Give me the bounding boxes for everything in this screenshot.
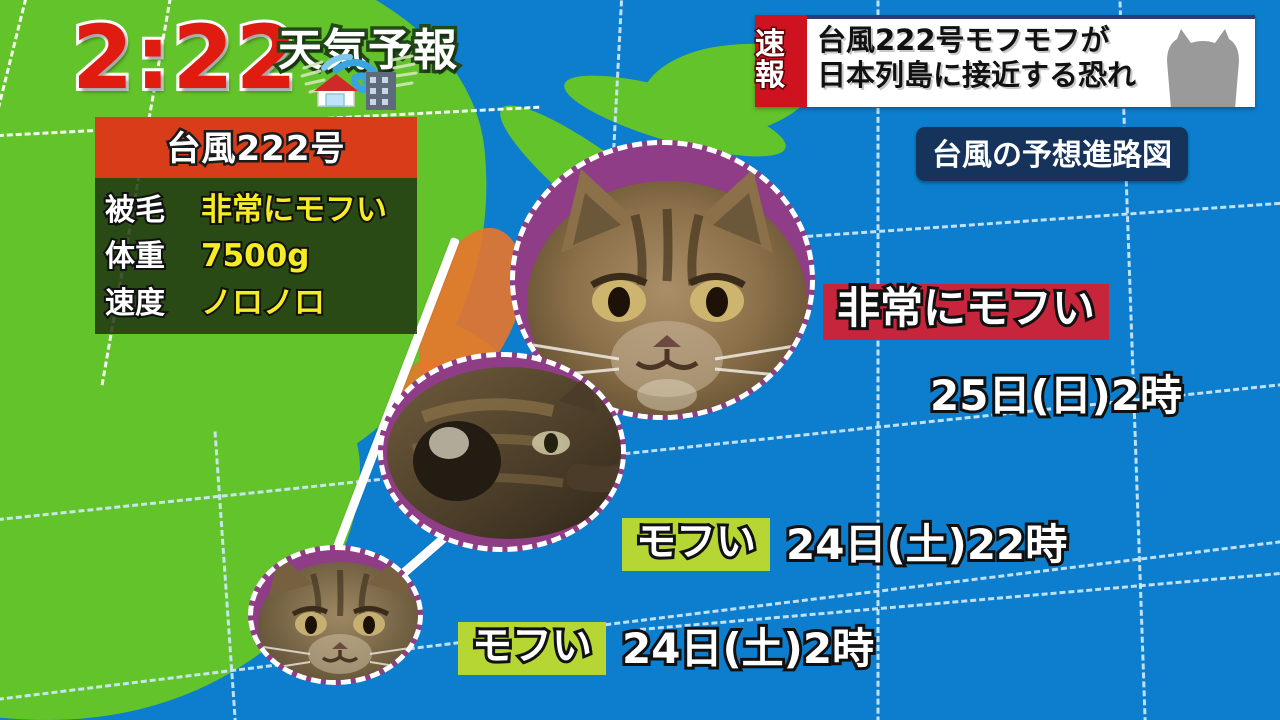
forecast-time-label-24th-2: 24日(土)2時: [622, 628, 874, 670]
info-value-speed: ノロノロ: [201, 277, 325, 322]
forecast-time-label-24th-22: 24日(土)22時: [786, 524, 1067, 566]
breaking-news-body: 台風222号モフモフが 日本列島に接近する恐れ: [807, 15, 1255, 107]
forecast-circle-24th-22: [378, 352, 626, 552]
typhoon-house-building-icon: [300, 46, 418, 112]
typhoon-info-panel: 台風222号 被毛 非常にモフい 体重 7500g 速度 ノロノロ: [95, 117, 417, 334]
intensity-chip-24th-22: モフい: [622, 518, 770, 571]
breaking-news-banner: 速報 台風222号モフモフが 日本列島に接近する恐れ: [755, 15, 1255, 107]
weather-forecast-broadcast: 2:22 天気予報 台風222号: [0, 0, 1280, 720]
info-row: 体重 7500g: [105, 231, 407, 275]
intensity-chip-24th-2: モフい: [458, 622, 606, 675]
cat-silhouette-icon: [1157, 27, 1249, 107]
info-key-speed: 速度: [105, 278, 201, 322]
forecast-label-24th-2: モフい 24日(土)2時: [458, 622, 874, 675]
forecast-label-24th-22: モフい 24日(土)22時: [622, 518, 1067, 571]
forecast-time-25th: 25日(日)2時: [930, 375, 1182, 417]
forecast-circle-24th-2: [248, 545, 423, 685]
info-key-coat: 被毛: [105, 185, 201, 229]
forecast-label-25th: 非常にモフい: [823, 284, 1109, 340]
info-value-weight: 7500g: [201, 238, 309, 274]
typhoon-info-header: 台風222号: [95, 117, 417, 178]
breaking-news-tag: 速報: [755, 15, 807, 107]
forecast-time-label-25th: 25日(日)2時: [930, 375, 1182, 417]
map-caption: 台風の予想進路図: [916, 127, 1188, 181]
info-row: 被毛 非常にモフい: [105, 184, 407, 229]
grid-meridian-4: [877, 0, 880, 720]
medium-curled-cat: [383, 357, 626, 552]
typhoon-info-body: 被毛 非常にモフい 体重 7500g 速度 ノロノロ: [95, 178, 417, 334]
info-row: 速度 ノロノロ: [105, 277, 407, 322]
on-air-clock: 2:22: [72, 14, 299, 102]
info-value-coat: 非常にモフい: [201, 184, 387, 229]
info-key-weight: 体重: [105, 231, 201, 275]
intensity-chip-25th: 非常にモフい: [823, 284, 1109, 340]
